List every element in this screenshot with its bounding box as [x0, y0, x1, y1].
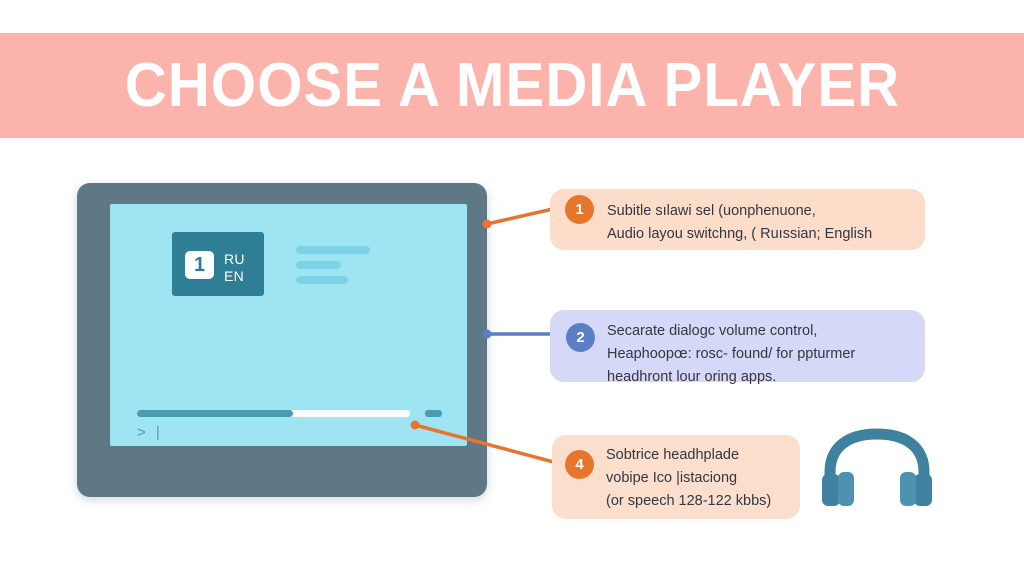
callout-badge-3[interactable]: 4 [565, 450, 594, 479]
language-label-primary: RU [224, 252, 245, 266]
callout-text-2: Secarate dialogc volume control, Heaphoo… [607, 320, 917, 389]
screen-text-line [296, 276, 348, 284]
callout-badge-2[interactable]: 2 [566, 323, 595, 352]
playback-progress-fill [137, 410, 293, 417]
infographic-canvas: CHOOSE A MEDIA PLAYER 1 RU EN > | Subitl… [0, 0, 1024, 585]
track-number-label: 1 [194, 255, 205, 275]
screen-text-line [296, 261, 341, 269]
callout-text-1: Subitle sılawi sel (uonphenuone, Audio l… [607, 200, 915, 246]
tablet-device [77, 183, 487, 497]
headphones-icon [818, 428, 936, 510]
track-number-box: 1 [185, 251, 214, 279]
screen-text-line [296, 246, 370, 254]
subtitle-audio-track-chip[interactable]: 1 RU EN [172, 232, 264, 296]
callout-box-1[interactable]: Subitle sılawi sel (uonphenuone, Audio l… [550, 189, 925, 250]
callout-text-3: Sobtrice headhplade vobipe Ico |istacion… [606, 444, 796, 513]
title-banner: CHOOSE A MEDIA PLAYER [0, 33, 1024, 138]
callout-badge-1[interactable]: 1 [565, 195, 594, 224]
playback-progress-bar[interactable] [137, 410, 410, 417]
callout-box-2[interactable]: Secarate dialogc volume control, Heaphoo… [550, 310, 925, 382]
callout-box-3[interactable]: Sobtrice headhplade vobipe Ico |istacion… [552, 435, 800, 519]
page-title: CHOOSE A MEDIA PLAYER [124, 55, 899, 117]
language-label-secondary: EN [224, 269, 244, 283]
playback-chapter-marker[interactable] [425, 410, 442, 417]
playback-controls[interactable]: > | [137, 425, 163, 440]
